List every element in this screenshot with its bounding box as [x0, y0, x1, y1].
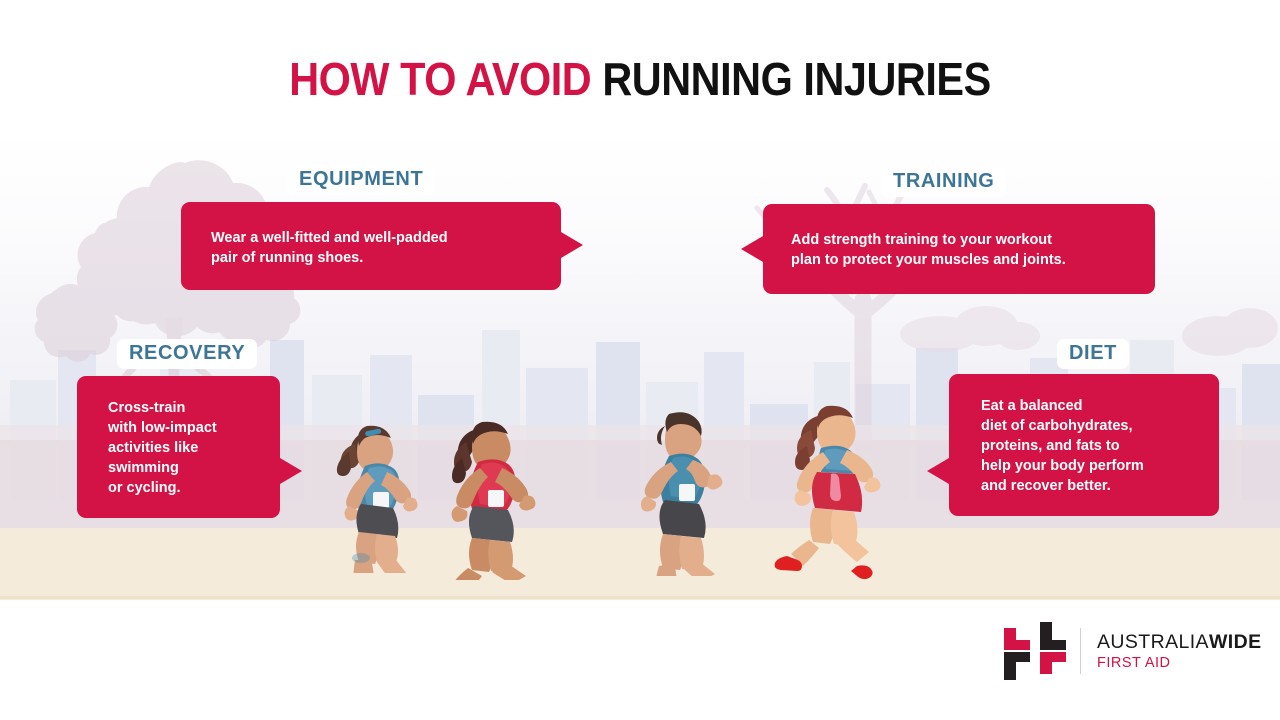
callout-text-equipment: Wear a well-fitted and well-padded pair …: [211, 228, 539, 268]
bubble-tail-equipment: [561, 232, 583, 258]
title-part-red: HOW TO AVOID: [289, 53, 591, 105]
bubble-tail-diet: [927, 458, 949, 484]
ground-edge: [0, 596, 1280, 599]
runner-3: [625, 398, 743, 576]
title-part-black: RUNNING INJURIES: [602, 53, 990, 105]
runner-1: [325, 408, 445, 573]
logo-line-2: FIRST AID: [1097, 654, 1261, 672]
bubble-tail-training: [741, 236, 763, 262]
logo-wordmark: AUSTRALIAWIDE FIRST AID: [1097, 631, 1261, 672]
callout-text-diet: Eat a balanced diet of carbohydrates, pr…: [981, 396, 1205, 496]
section-label-training: TRAINING: [881, 167, 1006, 197]
callout-bubble-training: Add strength training to your workout pl…: [763, 204, 1155, 294]
brand-logo: AUSTRALIAWIDE FIRST AID: [1004, 622, 1261, 680]
section-label-diet: DIET: [1057, 339, 1129, 369]
page-title: HOW TO AVOID RUNNING INJURIES: [64, 52, 1216, 106]
cross-logo-icon: [1004, 622, 1066, 680]
logo-divider: [1080, 628, 1081, 674]
bubble-tail-recovery: [280, 458, 302, 484]
callout-bubble-recovery: Cross-train with low-impact activities l…: [77, 376, 280, 518]
logo-australia: AUSTRALIA: [1097, 631, 1209, 653]
callout-text-recovery: Cross-train with low-impact activities l…: [108, 398, 266, 498]
runner-4: [765, 390, 897, 580]
callout-bubble-diet: Eat a balanced diet of carbohydrates, pr…: [949, 374, 1219, 516]
cloud-shape-center: [900, 300, 1040, 356]
section-label-equipment: EQUIPMENT: [287, 165, 435, 195]
logo-line-1: AUSTRALIAWIDE: [1097, 631, 1261, 654]
section-label-recovery: RECOVERY: [117, 339, 257, 369]
infographic-canvas: HOW TO AVOID RUNNING INJURIES EQUIPMENT …: [0, 0, 1280, 720]
callout-text-training: Add strength training to your workout pl…: [791, 230, 1135, 270]
logo-wide: WIDE: [1209, 631, 1262, 653]
cloud-shape-right: [1180, 300, 1280, 360]
callout-bubble-equipment: Wear a well-fitted and well-padded pair …: [181, 202, 561, 290]
runner-2: [432, 402, 562, 580]
